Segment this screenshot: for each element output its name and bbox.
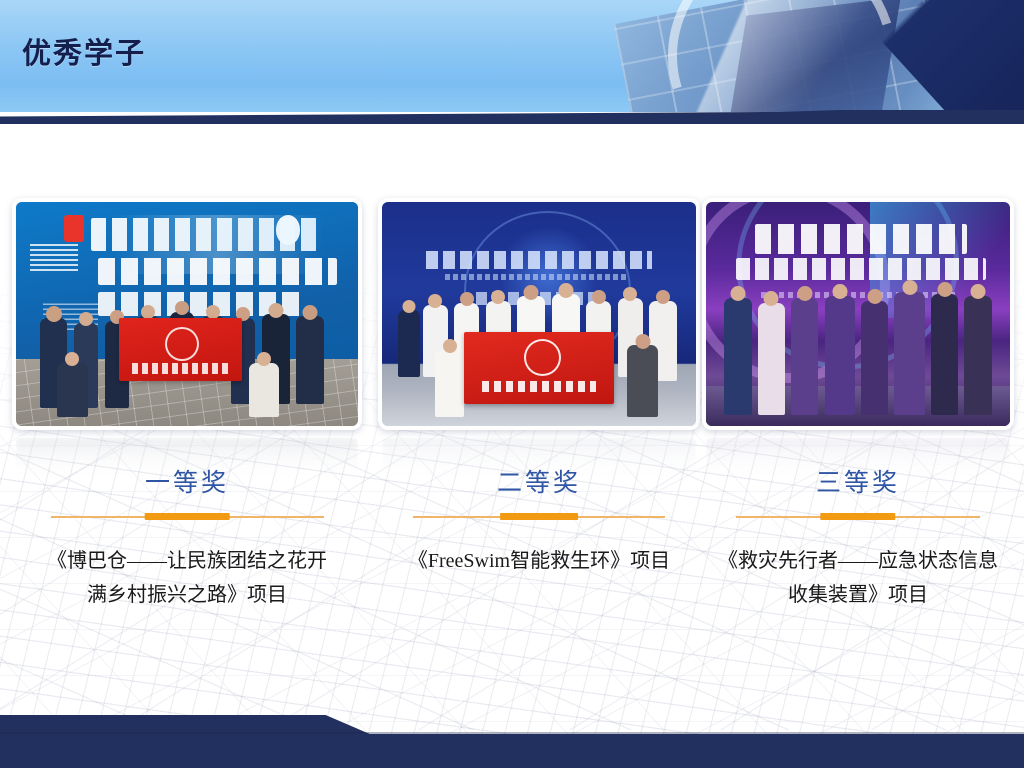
caption-first-prize: 一等奖 《博巴仓——让民族团结之花开满乡村振兴之路》项目 <box>12 470 362 612</box>
internet-plus-competition-photo <box>382 202 696 426</box>
prize-divider <box>51 512 324 522</box>
project-title: 《救灾先行者——应急状态信息收集装置》项目 <box>702 544 1014 613</box>
page-title: 优秀学子 <box>22 30 146 72</box>
photo-card-third-prize[interactable] <box>702 198 1014 430</box>
school-flag <box>464 332 615 404</box>
people-group <box>16 202 358 426</box>
prize-divider <box>736 512 979 522</box>
photo-card-row <box>0 198 1024 438</box>
prize-divider <box>413 512 664 522</box>
slide-root: 优秀学子 <box>0 0 1024 768</box>
divider-thick-segment <box>145 513 230 520</box>
photo-card-first-prize[interactable] <box>12 198 362 430</box>
caption-second-prize: 二等奖 《FreeSwim智能救生环》项目 <box>378 470 700 578</box>
slide-footer <box>0 712 1024 768</box>
caption-third-prize: 三等奖 《救灾先行者——应急状态信息收集装置》项目 <box>702 470 1014 612</box>
zhenxingbei-competition-photo <box>16 202 358 426</box>
prize-label: 三等奖 <box>702 470 1014 498</box>
divider-thick-segment <box>500 513 578 520</box>
prize-label: 二等奖 <box>378 470 700 498</box>
slide-header: 优秀学子 <box>0 0 1024 124</box>
challenge-cup-competition-photo <box>706 202 1010 426</box>
footer-left-block <box>0 715 370 768</box>
footer-edge-line <box>0 732 1024 734</box>
prize-label: 一等奖 <box>12 470 362 498</box>
project-title: 《博巴仓——让民族团结之花开满乡村振兴之路》项目 <box>12 544 362 613</box>
header-bottom-band <box>0 110 1024 124</box>
photo-card-second-prize[interactable] <box>378 198 700 430</box>
caption-row: 一等奖 《博巴仓——让民族团结之花开满乡村振兴之路》项目 二等奖 《FreeSw… <box>0 470 1024 700</box>
divider-thick-segment <box>820 513 895 520</box>
project-title: 《FreeSwim智能救生环》项目 <box>378 544 700 578</box>
school-flag-text <box>482 381 595 392</box>
school-flag-text <box>132 363 228 374</box>
people-group <box>706 202 1010 426</box>
